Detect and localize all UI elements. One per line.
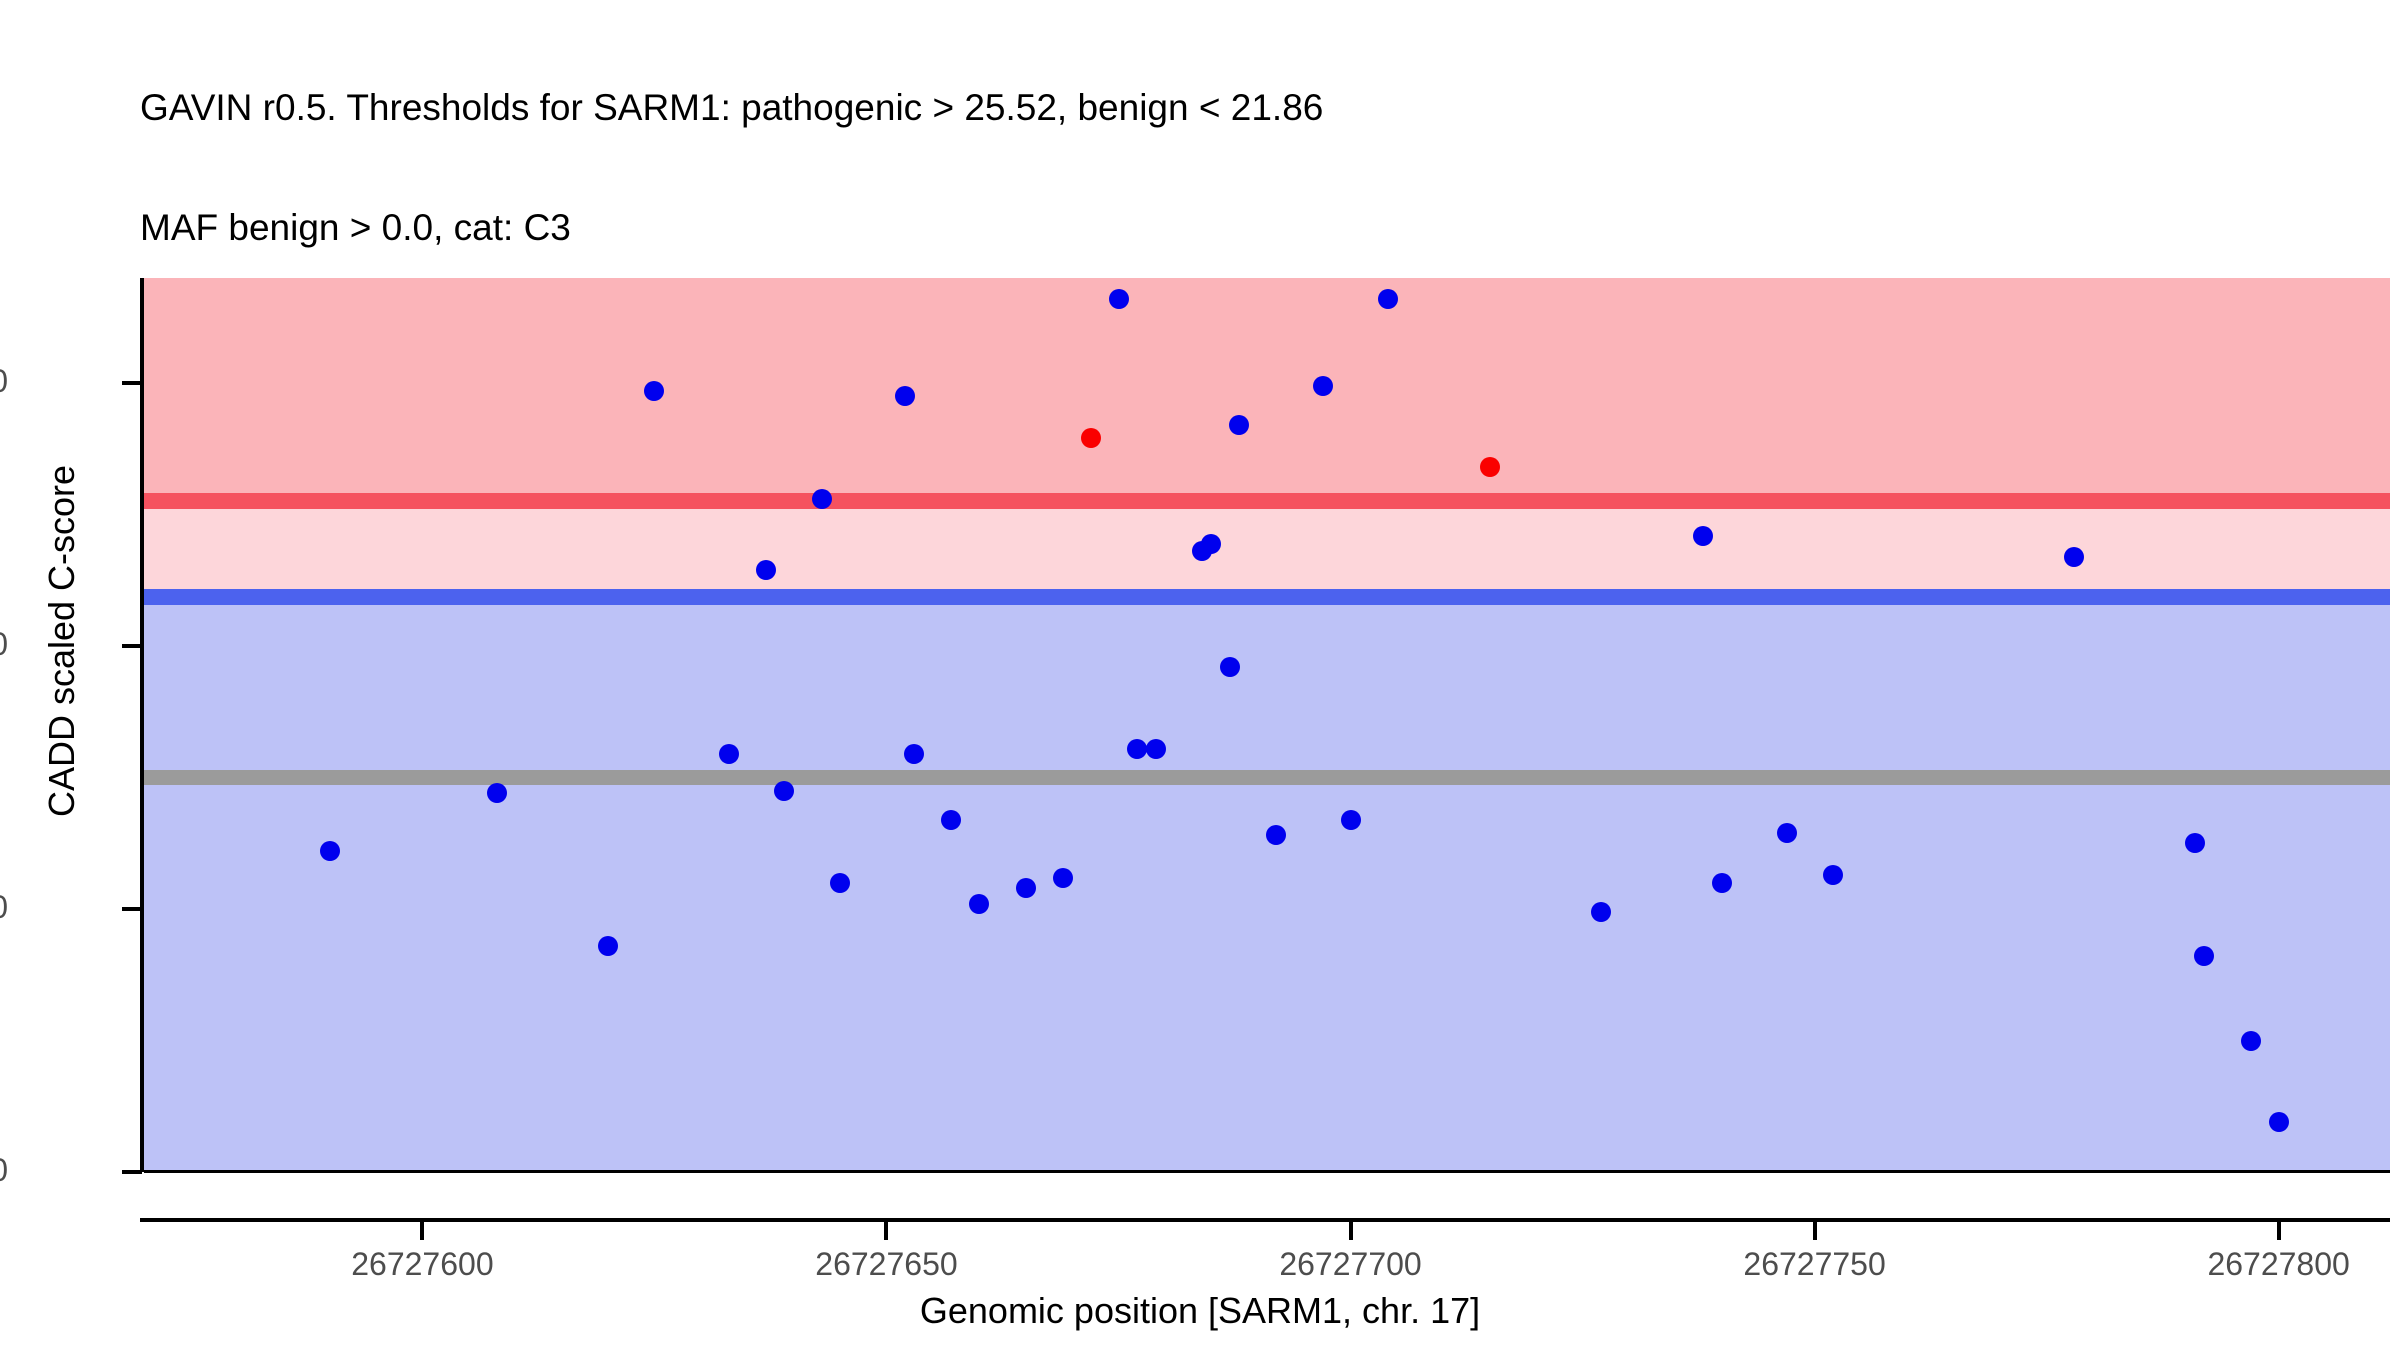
y-axis-line: [140, 278, 144, 1172]
x-axis-tick-label: 26727600: [272, 1246, 572, 1283]
data-point: [1081, 428, 1101, 448]
data-point: [2269, 1112, 2289, 1132]
x-axis-tick-label: 26727650: [736, 1246, 1036, 1283]
x-axis-tick-label: 26727700: [1201, 1246, 1501, 1283]
data-point: [1712, 873, 1732, 893]
x-axis-tick: [1349, 1222, 1353, 1240]
data-point: [830, 873, 850, 893]
data-point: [1823, 865, 1843, 885]
data-point: [1341, 810, 1361, 830]
y-axis-tick-label: 30: [0, 363, 8, 400]
data-point: [1777, 823, 1797, 843]
chart-canvas: GAVIN r0.5. Thresholds for SARM1: pathog…: [0, 0, 2400, 1350]
y-axis-tick: [122, 907, 142, 911]
data-point: [1693, 526, 1713, 546]
x-axis-line: [140, 1218, 2390, 1222]
data-point: [2241, 1031, 2261, 1051]
data-point: [1313, 376, 1333, 396]
data-point: [719, 744, 739, 764]
y-axis-title: CADD scaled C-score: [41, 331, 83, 951]
data-point: [1146, 739, 1166, 759]
plot-panel: [144, 278, 2390, 1172]
pathogenic-threshold-line: [144, 493, 2390, 509]
pathogenic-region: [144, 278, 2390, 501]
data-point: [1016, 878, 1036, 898]
data-point: [1201, 534, 1221, 554]
y-axis-tick: [122, 644, 142, 648]
x-axis-title: Genomic position [SARM1, chr. 17]: [0, 1290, 2400, 1332]
vous-region: [144, 509, 2390, 597]
data-point: [1220, 657, 1240, 677]
title-line-2: MAF benign > 0.0, cat: C3: [140, 208, 2340, 248]
data-point: [812, 489, 832, 509]
data-point: [598, 936, 618, 956]
x-axis-tick-label: 26727750: [1665, 1246, 1965, 1283]
data-point: [320, 841, 340, 861]
x-axis-tick: [884, 1222, 888, 1240]
x-axis-tick-label: 26727800: [2129, 1246, 2400, 1283]
data-point: [1053, 868, 1073, 888]
data-point: [1591, 902, 1611, 922]
y-axis-tick-label: 20: [0, 626, 8, 663]
y-axis-tick: [122, 381, 142, 385]
data-point: [1480, 457, 1500, 477]
data-point: [969, 894, 989, 914]
data-point: [774, 781, 794, 801]
x-axis-tick: [420, 1222, 424, 1240]
data-point: [756, 560, 776, 580]
y-axis-tick-label: 0: [0, 1152, 8, 1189]
data-point: [1109, 289, 1129, 309]
y-axis-tick-label: 10: [0, 889, 8, 926]
x-axis-tick: [2277, 1222, 2281, 1240]
data-point: [487, 783, 507, 803]
y-axis-tick: [122, 1170, 142, 1174]
benign-threshold-line: [144, 589, 2390, 605]
benign-region: [144, 605, 2390, 1172]
data-point: [941, 810, 961, 830]
fallback-threshold-line: [144, 770, 2390, 786]
x-axis-tick: [1813, 1222, 1817, 1240]
title-line-1: GAVIN r0.5. Thresholds for SARM1: pathog…: [140, 88, 2340, 128]
data-point: [1127, 739, 1147, 759]
data-point: [1378, 289, 1398, 309]
panel-bottom-rule: [144, 1170, 2390, 1173]
